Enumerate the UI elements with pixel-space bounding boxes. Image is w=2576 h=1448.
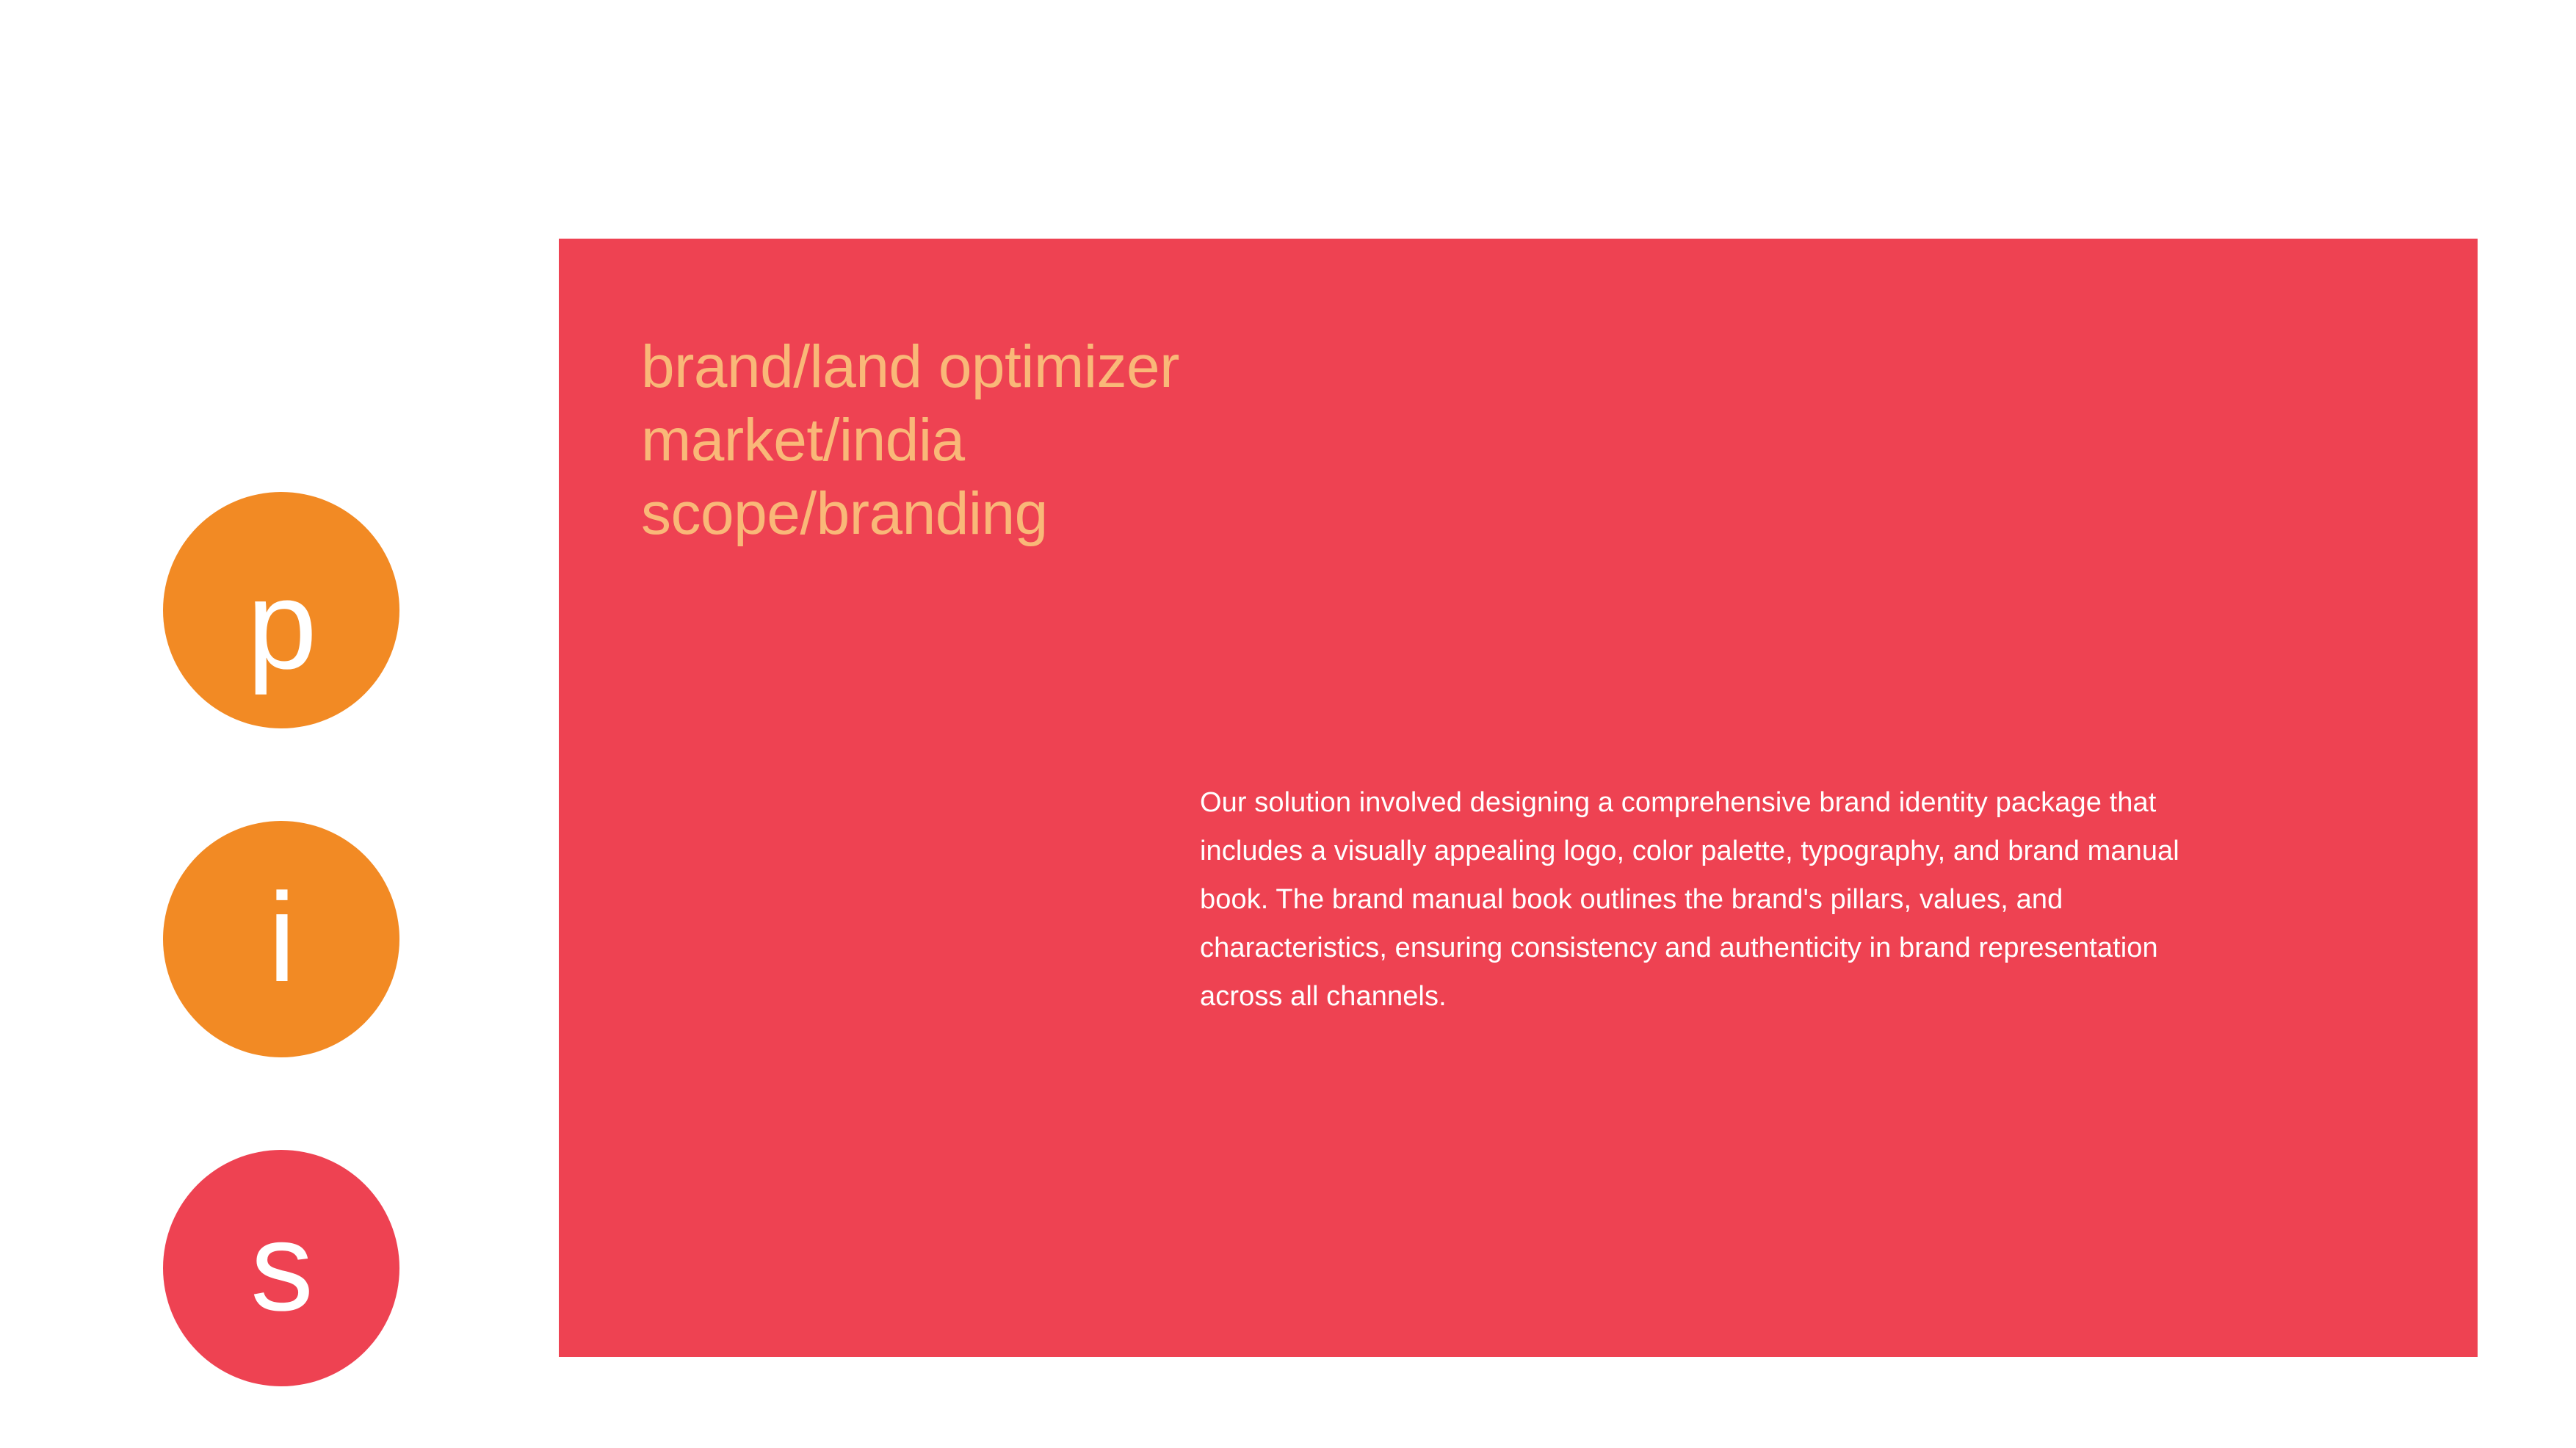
panel-heading: brand/land optimizermarket/indiascope/br…	[641, 330, 1179, 551]
slide-canvas: p i s brand/land optimizermarket/indiasc…	[0, 0, 2576, 1448]
badge-letter-i-icon: i	[268, 875, 294, 1001]
heading-line-3: scope/branding	[641, 477, 1179, 551]
panel-body-paragraph: Our solution involved designing a compre…	[1200, 778, 2243, 1021]
badge-letter-s-icon: s	[250, 1203, 312, 1330]
badge-letter-p-icon: p	[247, 562, 316, 688]
badge-i: i	[163, 821, 399, 1057]
badge-p: p	[163, 492, 399, 728]
content-panel: brand/land optimizermarket/indiascope/br…	[559, 239, 2478, 1357]
heading-line-1: brand/land optimizer	[641, 330, 1179, 404]
badge-column: p i s	[163, 492, 399, 1386]
badge-s: s	[163, 1150, 399, 1386]
heading-line-2: market/india	[641, 404, 1179, 477]
